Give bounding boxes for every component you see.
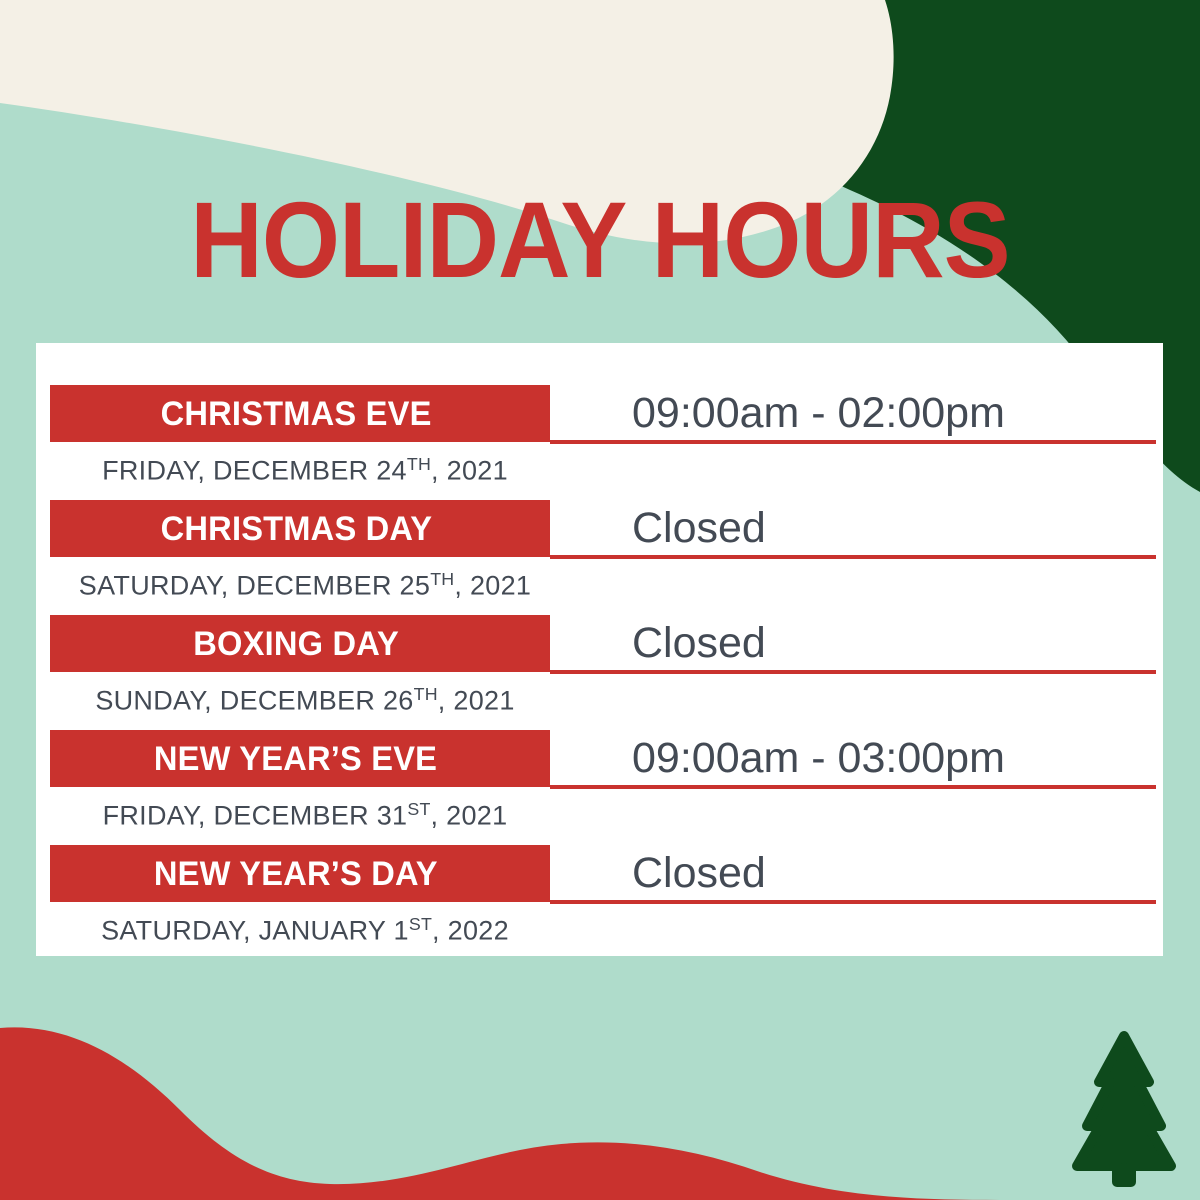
holiday-date-prefix: SATURDAY, DECEMBER 25 — [79, 570, 430, 600]
holiday-date-prefix: SUNDAY, DECEMBER 26 — [95, 685, 413, 715]
page-title: HOLIDAY HOURS — [42, 186, 1158, 294]
holiday-date-ordinal: TH — [407, 454, 431, 474]
holiday-date-suffix: , 2021 — [431, 800, 508, 830]
holiday-name: CHRISTMAS DAY — [160, 512, 432, 546]
holiday-date-prefix: FRIDAY, DECEMBER 24 — [102, 455, 407, 485]
holiday-hours-value: 09:00am - 03:00pm — [632, 732, 1005, 784]
holiday-name: CHRISTMAS EVE — [161, 397, 432, 431]
holiday-date: SATURDAY, JANUARY 1ST, 2022 — [50, 905, 560, 949]
holiday-date-suffix: , 2021 — [454, 570, 531, 600]
holiday-label-bar: NEW YEAR’S DAY — [50, 845, 550, 902]
holiday-date-suffix: , 2021 — [431, 455, 508, 485]
holiday-date: SUNDAY, DECEMBER 26TH, 2021 — [50, 675, 560, 719]
holiday-hours-card: CHRISTMAS EVE 09:00am - 02:00pm FRIDAY, … — [36, 343, 1163, 956]
holiday-date-suffix: , 2022 — [432, 915, 509, 945]
holiday-label-bar: BOXING DAY — [50, 615, 550, 672]
holiday-label-bar: NEW YEAR’S EVE — [50, 730, 550, 787]
holiday-date: FRIDAY, DECEMBER 31ST, 2021 — [50, 790, 560, 834]
page-title-wrapper: HOLIDAY HOURS — [0, 186, 1200, 294]
holiday-date-ordinal: TH — [430, 569, 454, 589]
holiday-date-ordinal: ST — [409, 914, 432, 934]
holiday-name: NEW YEAR’S EVE — [154, 742, 437, 776]
holiday-name: NEW YEAR’S DAY — [154, 857, 438, 891]
holiday-hours-value: Closed — [632, 502, 766, 554]
holiday-date-prefix: SATURDAY, JANUARY 1 — [101, 915, 409, 945]
holiday-hours-value: Closed — [632, 847, 766, 899]
holiday-date-ordinal: ST — [407, 799, 430, 819]
holiday-date: SATURDAY, DECEMBER 25TH, 2021 — [50, 560, 560, 604]
holiday-label-bar: CHRISTMAS EVE — [50, 385, 550, 442]
holiday-date: FRIDAY, DECEMBER 24TH, 2021 — [50, 445, 560, 489]
holiday-label-bar: CHRISTMAS DAY — [50, 500, 550, 557]
holiday-date-suffix: , 2021 — [438, 685, 515, 715]
row-separator — [550, 555, 1156, 559]
row-separator — [550, 670, 1156, 674]
row-separator — [550, 900, 1156, 904]
holiday-hours-value: Closed — [632, 617, 766, 669]
holiday-date-ordinal: TH — [414, 684, 438, 704]
row-separator — [550, 440, 1156, 444]
holiday-hours-value: 09:00am - 02:00pm — [632, 387, 1005, 439]
christmas-tree-icon — [1064, 1014, 1184, 1194]
holiday-date-prefix: FRIDAY, DECEMBER 31 — [103, 800, 408, 830]
row-separator — [550, 785, 1156, 789]
holiday-name: BOXING DAY — [193, 627, 399, 661]
